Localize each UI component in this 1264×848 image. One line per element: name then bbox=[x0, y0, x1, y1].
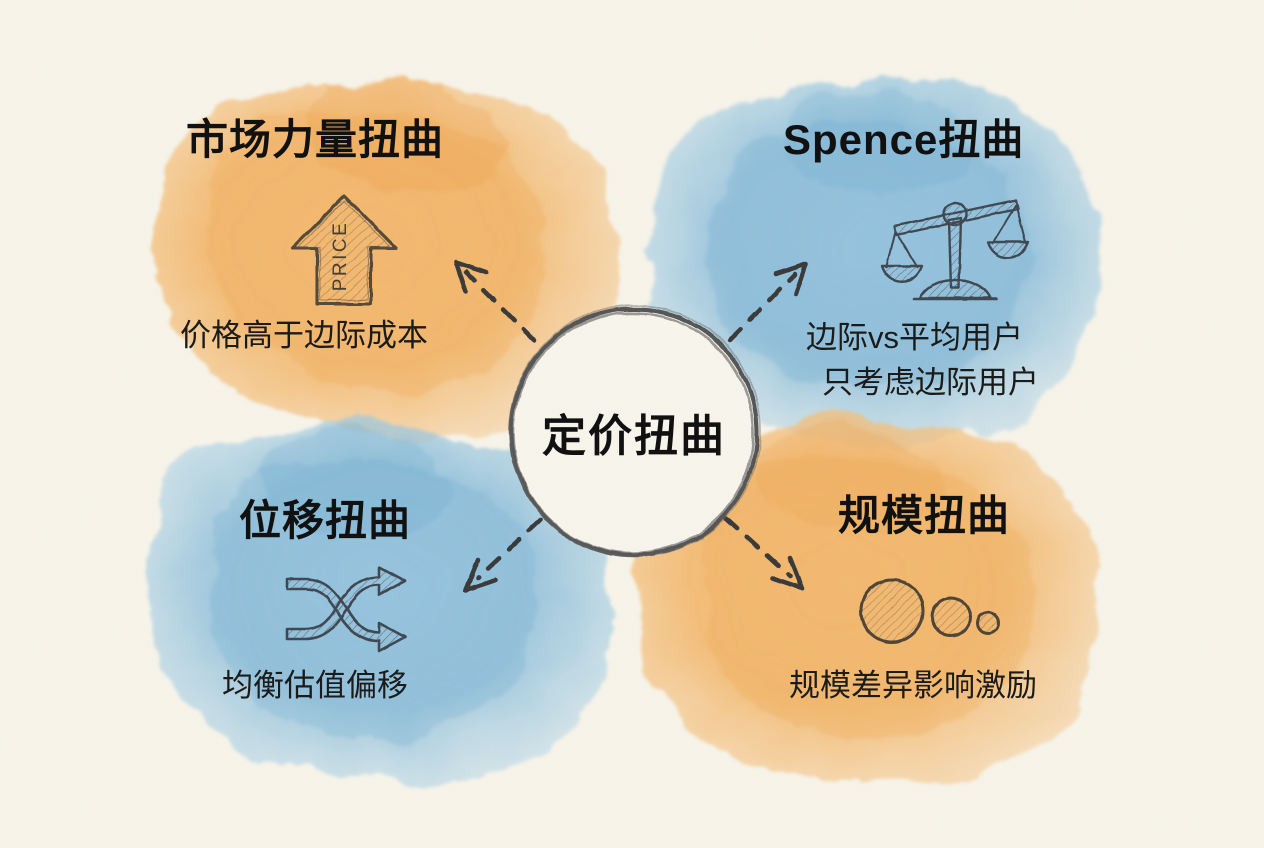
price-up-arrow-icon: PRICE bbox=[283, 190, 405, 310]
quadrant-subtitle-market-power: 价格高于边际成本 bbox=[180, 318, 428, 355]
circle-medium bbox=[932, 598, 970, 636]
quadrant-subtitle-displacement: 均衡估值偏移 bbox=[222, 668, 408, 705]
quadrant-subtitle-spence-2: 只考虑边际用户 bbox=[822, 365, 1039, 402]
quadrant-subtitle-scale: 规模差异影响激励 bbox=[789, 668, 1037, 705]
price-arrow-label: PRICE bbox=[330, 221, 351, 292]
diagram-canvas: 定价扭曲 市场力量扭曲 PRICE 价格高于边际成本 Spence扭曲 bbox=[0, 0, 1264, 848]
quadrant-title-displacement: 位移扭曲 bbox=[239, 500, 411, 542]
circle-small bbox=[978, 613, 999, 634]
balance-scale-icon bbox=[880, 192, 1030, 312]
three-circles-icon bbox=[858, 573, 1000, 649]
quadrant-title-scale: 规模扭曲 bbox=[838, 495, 1010, 537]
center-label: 定价扭曲 bbox=[498, 296, 770, 568]
quadrant-title-spence: Spence扭曲 bbox=[783, 119, 1024, 161]
quadrant-subtitle-spence-1: 边际vs平均用户 bbox=[806, 320, 1023, 357]
circle-large bbox=[861, 580, 923, 642]
quadrant-title-market-power: 市场力量扭曲 bbox=[186, 119, 444, 161]
shuffle-arrows-icon bbox=[283, 563, 409, 655]
